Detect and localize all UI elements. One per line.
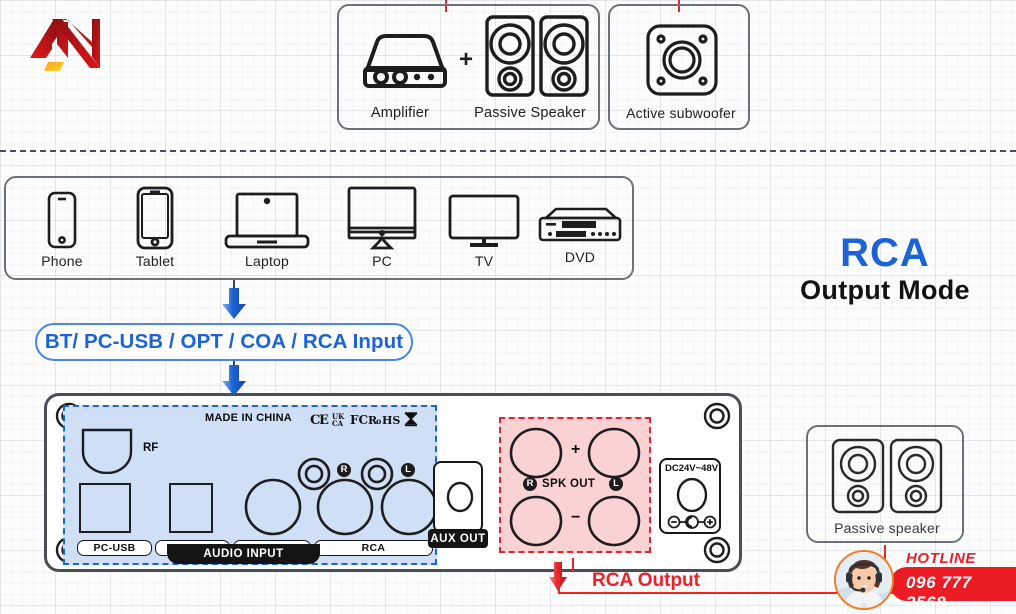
arrow-down-to-input bbox=[221, 288, 247, 325]
device-pc: PC bbox=[336, 186, 428, 269]
diagram-canvas: + Amplifier Passive Speaker bbox=[0, 0, 1016, 614]
spk-terminal-l-plus[interactable] bbox=[587, 427, 641, 484]
amplifier-label: Amplifier bbox=[345, 105, 455, 121]
dc-polarity-icon bbox=[667, 514, 717, 535]
spk-terminal-r-minus[interactable] bbox=[509, 495, 563, 552]
spk-badge-r: R bbox=[523, 477, 537, 491]
support-agent-avatar bbox=[834, 550, 894, 610]
amplifier-icon bbox=[353, 24, 457, 97]
audio-input-tab: AUDIO INPUT bbox=[167, 544, 320, 564]
spk-minus-symbol: − bbox=[571, 509, 580, 527]
device-tablet-label: Tablet bbox=[114, 253, 196, 269]
rca-jack-right[interactable] bbox=[315, 477, 375, 542]
device-pc-label: PC bbox=[336, 253, 428, 269]
device-phone: Phone bbox=[28, 190, 96, 269]
passive-speaker-label: Passive Speaker bbox=[461, 105, 599, 121]
pc-usb-port[interactable] bbox=[79, 483, 131, 533]
aux-out-tab: AUX OUT bbox=[428, 529, 488, 548]
device-laptop: Laptop bbox=[212, 192, 322, 269]
aux-out-jack[interactable] bbox=[446, 481, 474, 518]
dc-power-box[interactable]: DC24V~48V bbox=[659, 458, 721, 534]
flow-line-spk-out bbox=[572, 558, 574, 572]
rf-antenna-port[interactable] bbox=[79, 426, 135, 479]
input-sources-pill[interactable]: BT/ PC-USB / OPT / COA / RCA Input bbox=[35, 323, 413, 361]
spk-terminal-l-minus[interactable] bbox=[587, 495, 641, 552]
active-subwoofer-icon bbox=[644, 22, 720, 103]
device-tv-label: TV bbox=[440, 253, 528, 269]
device-tablet: Tablet bbox=[114, 186, 196, 269]
amplifier-speaker-group: + Amplifier Passive Speaker bbox=[337, 4, 600, 130]
rca-badge-r: R bbox=[337, 463, 351, 477]
svg-text:E: E bbox=[319, 413, 329, 427]
rca-badge-l: L bbox=[401, 463, 415, 477]
hotline-number: 096 777 2568 bbox=[906, 573, 1016, 613]
device-tv: TV bbox=[440, 194, 528, 269]
device-laptop-label: Laptop bbox=[212, 253, 322, 269]
opt-port[interactable] bbox=[169, 483, 213, 533]
device-phone-label: Phone bbox=[28, 253, 96, 269]
passive-speaker-output-group: Passive speaker bbox=[806, 425, 964, 543]
spk-badge-l: L bbox=[609, 477, 623, 491]
port-label-pc-usb: PC-USB bbox=[77, 540, 152, 556]
spk-plus-symbol: + bbox=[571, 441, 580, 459]
passive-speaker-output-label: Passive speaker bbox=[808, 520, 966, 536]
made-in-china-label: MADE IN CHINA bbox=[205, 412, 292, 424]
rf-label: RF bbox=[143, 442, 158, 454]
mode-title-secondary: Output Mode bbox=[760, 274, 1010, 308]
active-subwoofer-label: Active subwoofer bbox=[610, 105, 752, 121]
passive-speaker-pair-icon bbox=[830, 437, 944, 520]
input-sources-label: BT/ PC-USB / OPT / COA / RCA Input bbox=[45, 330, 403, 354]
hotline-word: HOTLINE bbox=[906, 550, 976, 567]
port-label-rca: RCA bbox=[314, 540, 433, 556]
device-dvd-label: DVD bbox=[534, 249, 626, 265]
speaker-output-zone: + − R SPK OUT L bbox=[499, 417, 651, 553]
flow-line-corner bbox=[558, 572, 560, 594]
certification-marks: C E UK CA FC R o HS bbox=[310, 411, 428, 432]
screw-bottom-right bbox=[703, 536, 731, 564]
aux-out-port-box[interactable] bbox=[433, 461, 483, 533]
mode-title: RCA Output Mode bbox=[760, 232, 1010, 308]
source-devices-group: Phone Tablet L bbox=[4, 176, 634, 280]
dc-voltage-label: DC24V~48V bbox=[665, 463, 718, 474]
device-dvd: DVD bbox=[534, 206, 626, 265]
svg-text:CA: CA bbox=[332, 419, 344, 427]
spk-out-label: SPK OUT bbox=[542, 478, 595, 490]
svg-text:FC: FC bbox=[350, 413, 368, 427]
rca-output-flow-label: RCA Output bbox=[592, 570, 700, 592]
an-brand-logo bbox=[22, 8, 152, 98]
screw-top-right bbox=[703, 402, 731, 430]
active-subwoofer-group: Active subwoofer bbox=[608, 4, 750, 130]
section-divider bbox=[0, 150, 1016, 152]
svg-text:HS: HS bbox=[382, 414, 400, 427]
amplifier-rear-panel: MADE IN CHINA C E UK CA FC R o HS bbox=[44, 393, 742, 572]
coa-port[interactable] bbox=[243, 477, 303, 542]
dc-power-jack[interactable] bbox=[676, 478, 708, 517]
hotline-badge[interactable]: HOTLINE 096 777 2568 bbox=[834, 548, 1016, 614]
plus-symbol: + bbox=[459, 46, 473, 74]
spk-terminal-r-plus[interactable] bbox=[509, 427, 563, 484]
passive-speaker-icon bbox=[483, 13, 593, 106]
mode-title-primary: RCA bbox=[760, 232, 1010, 274]
audio-input-zone: MADE IN CHINA C E UK CA FC R o HS bbox=[63, 405, 437, 565]
